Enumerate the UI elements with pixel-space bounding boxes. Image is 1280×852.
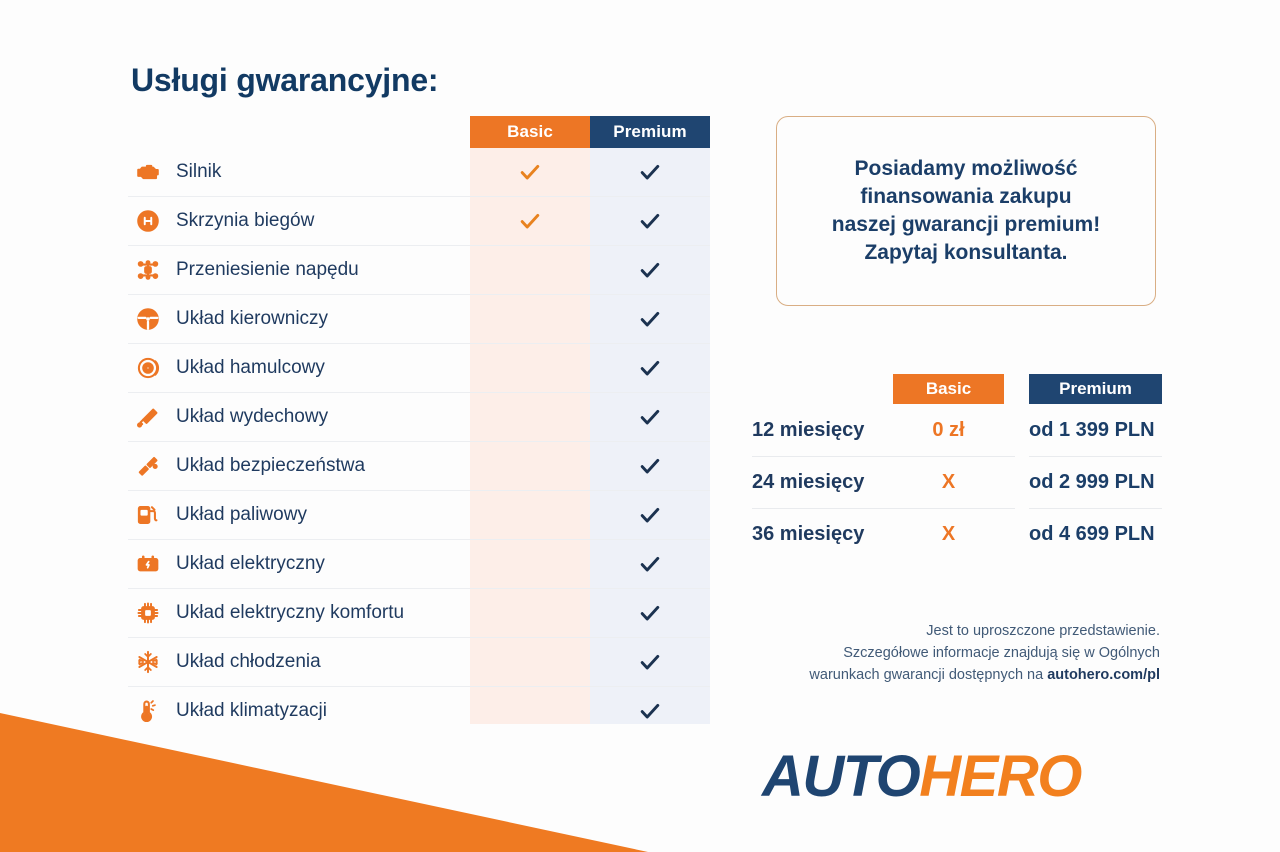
- pricing-row: 24 miesięcyXod 2 999 PLN: [752, 456, 1162, 508]
- table-row: Skrzynia biegów: [128, 197, 710, 246]
- premium-cell-check-icon: [590, 540, 710, 588]
- pricing-basic-value: X: [893, 508, 1004, 560]
- financing-promo-box: Posiadamy możliwość finansowania zakupu …: [776, 116, 1156, 306]
- logo-hero-text: HERO: [919, 744, 1081, 809]
- financing-promo-text: Posiadamy możliwość finansowania zakupu …: [818, 155, 1114, 267]
- promo-line-1: Posiadamy możliwość: [855, 157, 1078, 180]
- premium-cell-check-icon: [590, 638, 710, 686]
- comparison-header-row: Basic Premium: [470, 116, 710, 148]
- pricing-header-row: Basic Premium: [752, 374, 1162, 404]
- premium-cell-check-icon: [590, 393, 710, 441]
- logo-auto-text: AUTO: [762, 744, 919, 809]
- premium-cell-check-icon: [590, 148, 710, 196]
- page-title: Usługi gwarancyjne:: [131, 62, 438, 99]
- pricing-premium-value: od 1 399 PLN: [1029, 404, 1162, 456]
- basic-cell: [470, 295, 590, 343]
- disclaimer-line-3: warunkach gwarancji dostępnych na: [809, 667, 1047, 683]
- basic-cell: [470, 687, 590, 735]
- row-label: Układ hamulcowy: [176, 357, 470, 379]
- pricing-term-label: 36 miesięcy: [752, 508, 893, 560]
- basic-cell-check-icon: [470, 197, 590, 245]
- table-row: Układ hamulcowy: [128, 344, 710, 393]
- thermometer-icon: [128, 687, 168, 735]
- snowflake-icon: [128, 638, 168, 686]
- basic-cell-check-icon: [470, 148, 590, 196]
- table-row: Układ paliwowy: [128, 491, 710, 540]
- disclaimer-text: Jest to uproszczone przedstawienie. Szcz…: [700, 620, 1160, 686]
- pricing-table: Basic Premium 12 miesięcy0 złod 1 399 PL…: [752, 374, 1162, 560]
- pricing-premium-value: od 2 999 PLN: [1029, 456, 1162, 508]
- seatbelt-icon: [128, 442, 168, 490]
- table-row: Układ bezpieczeństwa: [128, 442, 710, 491]
- row-label: Układ elektryczny komfortu: [176, 602, 470, 624]
- table-row: Układ elektryczny: [128, 540, 710, 589]
- table-row: Układ elektryczny komfortu: [128, 589, 710, 638]
- table-row: Układ chłodzenia: [128, 638, 710, 687]
- chip-icon: [128, 589, 168, 637]
- premium-cell-check-icon: [590, 491, 710, 539]
- pricing-basic-value: 0 zł: [893, 404, 1004, 456]
- row-label: Układ bezpieczeństwa: [176, 455, 470, 477]
- row-label: Silnik: [176, 161, 470, 183]
- pricing-header-basic[interactable]: Basic: [893, 374, 1004, 404]
- premium-cell-check-icon: [590, 246, 710, 294]
- steering-wheel-icon: [128, 295, 168, 343]
- premium-cell-check-icon: [590, 589, 710, 637]
- engine-icon: [128, 148, 168, 196]
- row-label: Układ chłodzenia: [176, 651, 470, 673]
- row-label: Układ wydechowy: [176, 406, 470, 428]
- table-row: Układ klimatyzacji: [128, 687, 710, 735]
- row-label: Układ kierowniczy: [176, 308, 470, 330]
- autohero-link[interactable]: autohero.com/pl: [1047, 667, 1160, 683]
- row-label: Układ klimatyzacji: [176, 700, 470, 722]
- table-row: Układ wydechowy: [128, 393, 710, 442]
- pricing-header-premium[interactable]: Premium: [1029, 374, 1162, 404]
- promo-line-4: Zapytaj konsultanta.: [864, 241, 1067, 264]
- premium-cell-check-icon: [590, 442, 710, 490]
- row-label: Układ paliwowy: [176, 504, 470, 526]
- exhaust-icon: [128, 393, 168, 441]
- basic-cell: [470, 491, 590, 539]
- disclaimer-line-1: Jest to uproszczone przedstawienie.: [926, 623, 1160, 639]
- promo-line-2: finansowania zakupu: [860, 185, 1071, 208]
- premium-cell-check-icon: [590, 687, 710, 735]
- row-label: Układ elektryczny: [176, 553, 470, 575]
- premium-cell-check-icon: [590, 295, 710, 343]
- fuel-pump-icon: [128, 491, 168, 539]
- pricing-row: 36 miesięcyXod 4 699 PLN: [752, 508, 1162, 560]
- table-row: Silnik: [128, 148, 710, 197]
- premium-cell-check-icon: [590, 344, 710, 392]
- drivetrain-icon: [128, 246, 168, 294]
- promo-line-3: naszej gwarancji premium!: [832, 213, 1100, 236]
- basic-cell: [470, 589, 590, 637]
- poster-canvas: Usługi gwarancyjne: Basic Premium Silnik…: [0, 0, 1280, 852]
- table-row: Przeniesienie napędu: [128, 246, 710, 295]
- battery-icon: [128, 540, 168, 588]
- pricing-row-list: 12 miesięcy0 złod 1 399 PLN24 miesięcyXo…: [752, 404, 1162, 560]
- row-label: Skrzynia biegów: [176, 210, 470, 232]
- brake-disc-icon: [128, 344, 168, 392]
- basic-cell: [470, 246, 590, 294]
- pricing-term-label: 12 miesięcy: [752, 404, 893, 456]
- table-row: Układ kierowniczy: [128, 295, 710, 344]
- basic-cell: [470, 393, 590, 441]
- column-header-basic[interactable]: Basic: [470, 116, 590, 148]
- basic-cell: [470, 638, 590, 686]
- basic-cell: [470, 540, 590, 588]
- basic-cell: [470, 344, 590, 392]
- gearbox-icon: [128, 197, 168, 245]
- pricing-row: 12 miesięcy0 złod 1 399 PLN: [752, 404, 1162, 456]
- column-header-premium[interactable]: Premium: [590, 116, 710, 148]
- pricing-premium-value: od 4 699 PLN: [1029, 508, 1162, 560]
- row-label: Przeniesienie napędu: [176, 259, 470, 281]
- autohero-logo: AUTOHERO: [762, 748, 1081, 806]
- disclaimer-line-2: Szczegółowe informacje znajdują się w Og…: [843, 645, 1160, 661]
- pricing-basic-value: X: [893, 456, 1004, 508]
- basic-cell: [470, 442, 590, 490]
- pricing-term-label: 24 miesięcy: [752, 456, 893, 508]
- premium-cell-check-icon: [590, 197, 710, 245]
- comparison-row-list: SilnikSkrzynia biegówPrzeniesienie napęd…: [128, 148, 710, 735]
